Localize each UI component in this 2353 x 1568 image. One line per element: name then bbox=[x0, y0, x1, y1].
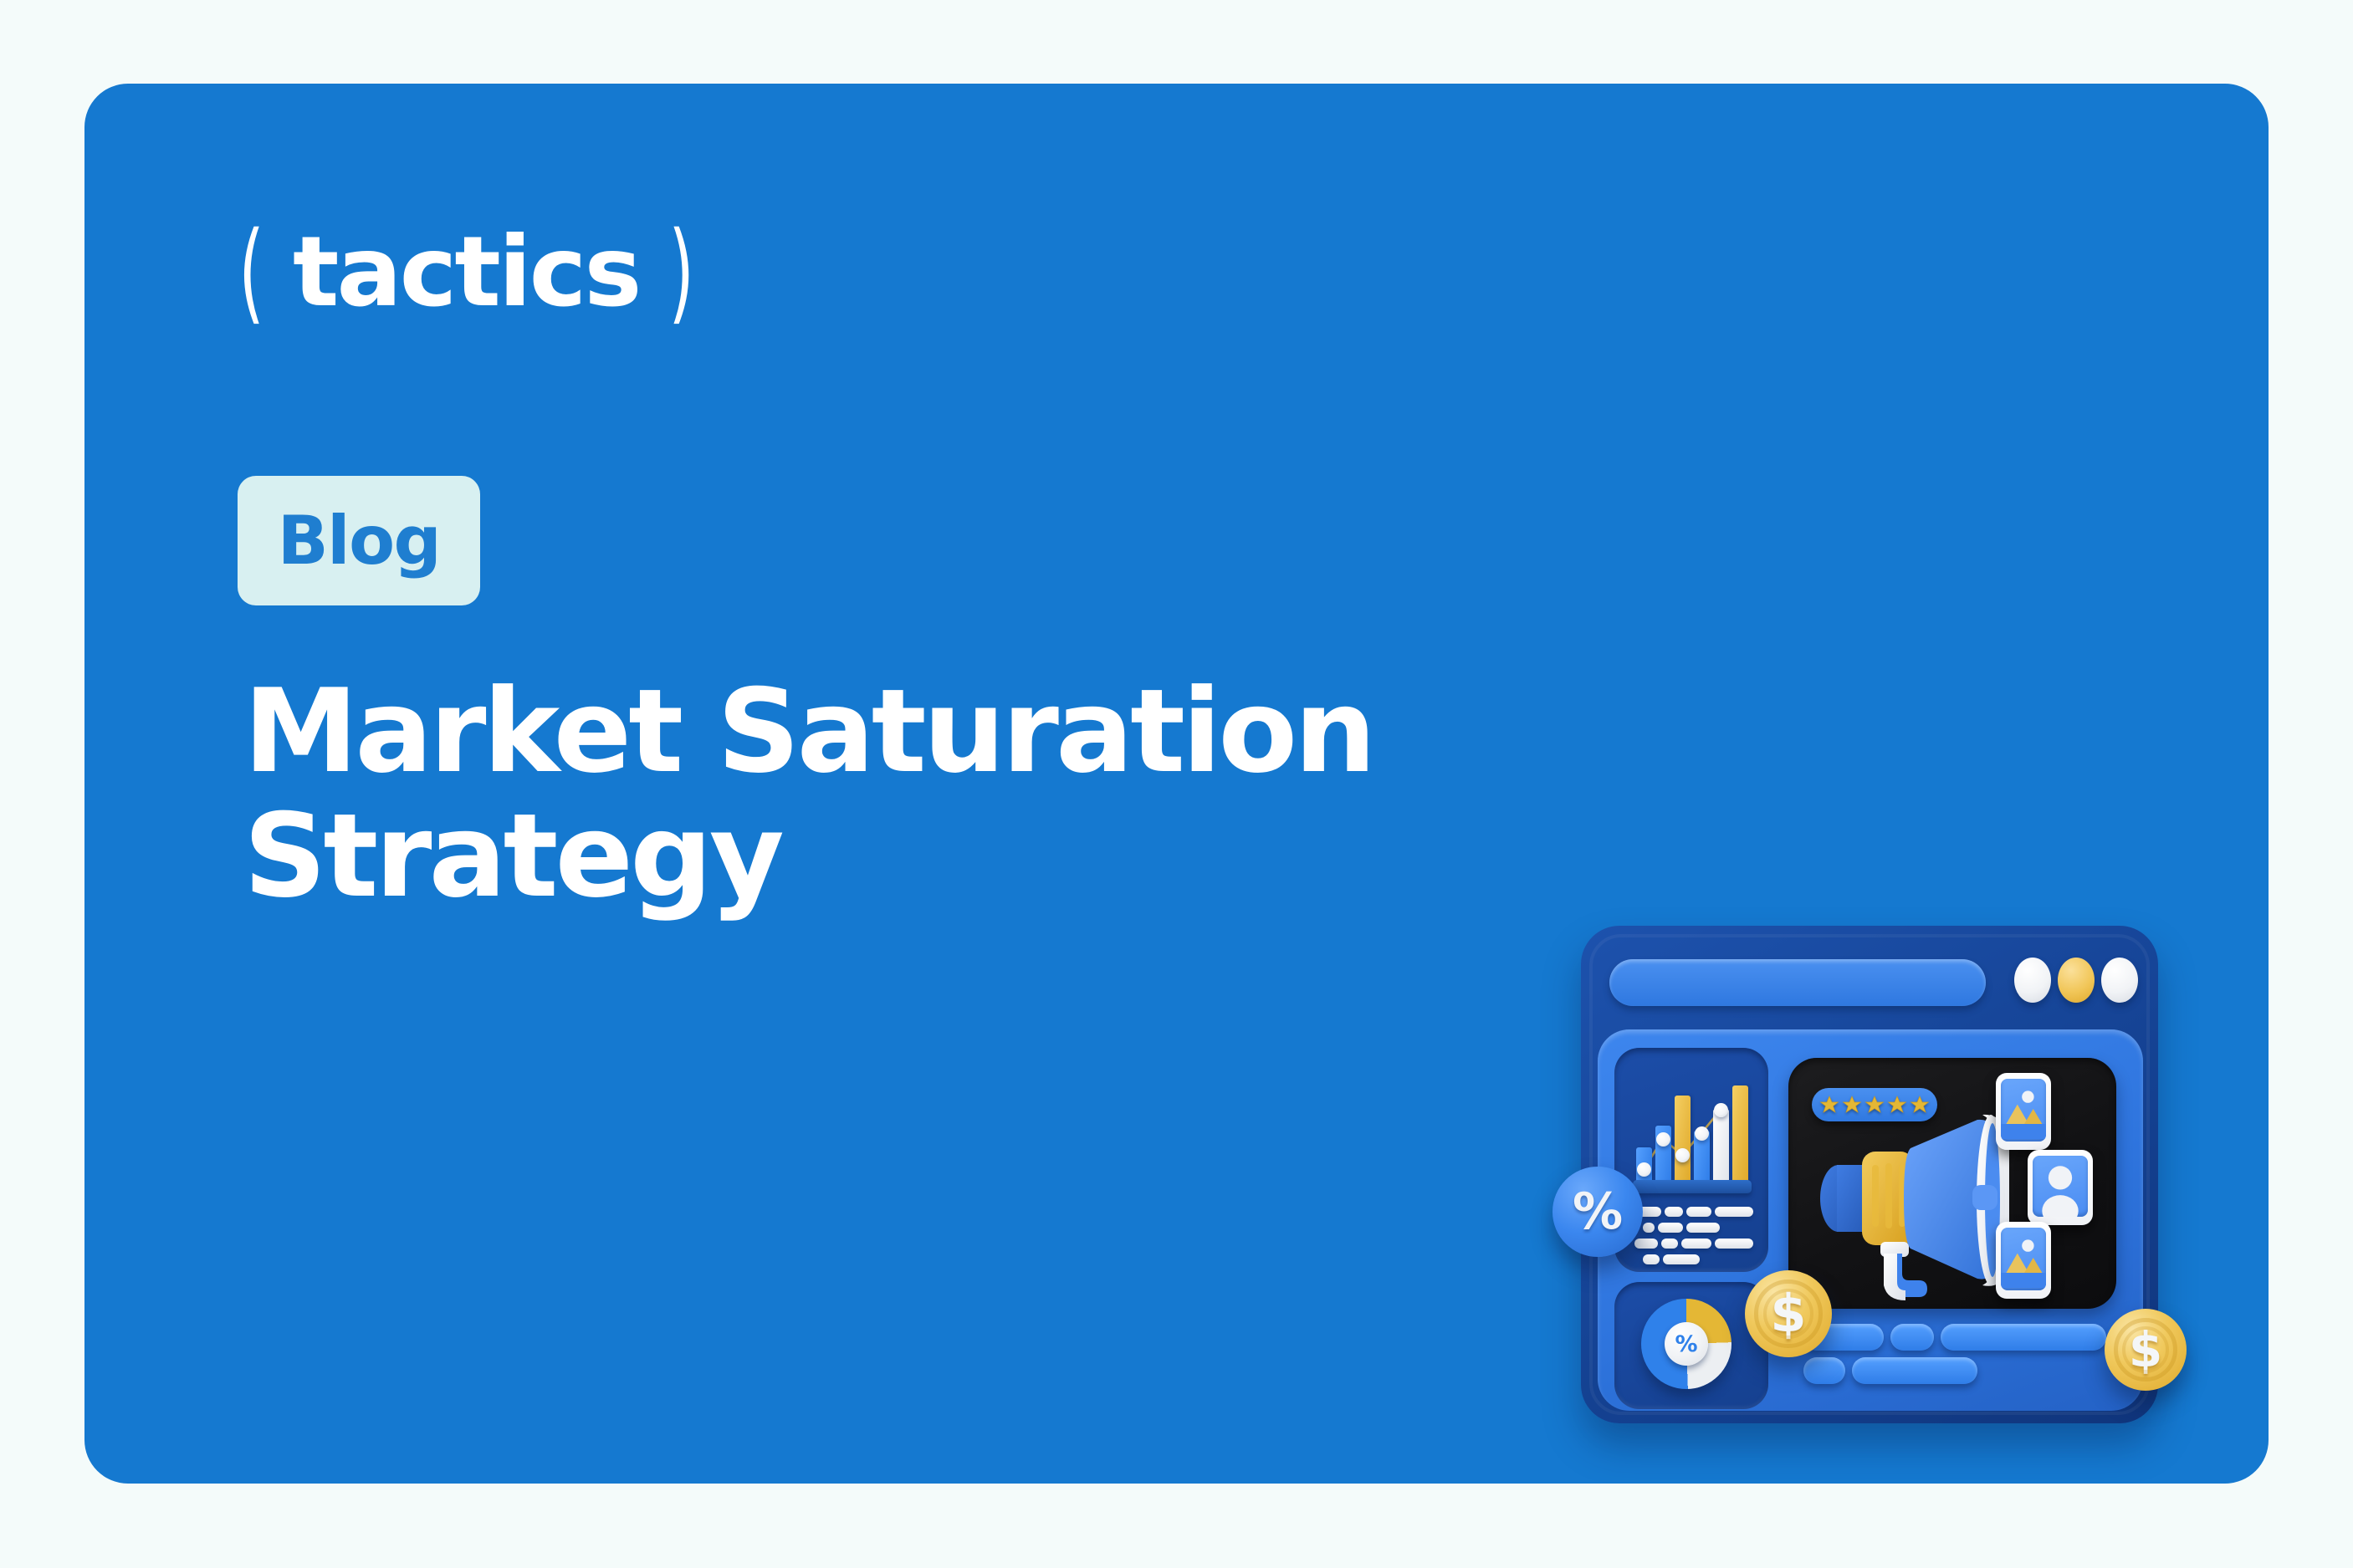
skeleton-line bbox=[1681, 1239, 1711, 1249]
skeleton-line bbox=[1643, 1254, 1660, 1264]
skeleton-line bbox=[1665, 1207, 1683, 1217]
trend-point bbox=[1695, 1126, 1709, 1141]
dollar-symbol: $ bbox=[1770, 1288, 1806, 1340]
brand-logo[interactable]: ( tactics ) bbox=[231, 222, 701, 323]
window-dot-gold-icon bbox=[2058, 958, 2095, 1003]
skeleton-line bbox=[1658, 1223, 1683, 1233]
skeleton-line bbox=[1686, 1207, 1711, 1217]
skeleton-line bbox=[1715, 1239, 1753, 1249]
skeleton-line bbox=[1686, 1223, 1720, 1233]
content-pill bbox=[1941, 1324, 2106, 1351]
skeleton-line bbox=[1663, 1254, 1700, 1264]
pie-chart: % bbox=[1641, 1299, 1732, 1389]
bar bbox=[1675, 1096, 1691, 1182]
pie-center-label: % bbox=[1665, 1322, 1708, 1366]
status-badge-label: Blog bbox=[278, 508, 441, 575]
bar-chart bbox=[1633, 1075, 1752, 1193]
coin-dollar-icon: $ bbox=[2105, 1309, 2187, 1391]
media-card-image[interactable] bbox=[1996, 1073, 2051, 1150]
bracket-left-icon: ( bbox=[238, 227, 263, 317]
skeleton-line bbox=[1715, 1207, 1753, 1217]
skeleton-line bbox=[1661, 1239, 1678, 1249]
trend-point bbox=[1656, 1132, 1670, 1147]
status-badge[interactable]: Blog bbox=[238, 476, 480, 605]
window-dot-white-icon bbox=[2014, 958, 2051, 1003]
media-card-person[interactable] bbox=[2028, 1150, 2093, 1225]
content-pill bbox=[1803, 1357, 1845, 1384]
percent-symbol: % bbox=[1573, 1187, 1623, 1237]
media-card-inner bbox=[2001, 1228, 2046, 1290]
bar bbox=[1713, 1109, 1729, 1182]
percent-badge: % bbox=[1552, 1167, 1643, 1257]
marketing-dashboard-illustration: % bbox=[1534, 906, 2203, 1474]
skeleton-line bbox=[1634, 1239, 1658, 1249]
trend-point bbox=[1714, 1103, 1728, 1117]
address-bar bbox=[1609, 959, 1986, 1006]
media-card-image[interactable] bbox=[1996, 1222, 2051, 1299]
bar bbox=[1732, 1085, 1748, 1182]
person-icon bbox=[2033, 1156, 2088, 1217]
coin-dollar-icon: $ bbox=[1745, 1270, 1832, 1357]
dollar-symbol: $ bbox=[2129, 1325, 2162, 1374]
hero-card: ( tactics ) Blog Market Saturation Strat… bbox=[84, 84, 2269, 1484]
window-dot-white-icon bbox=[2101, 958, 2138, 1003]
image-icon bbox=[2001, 1079, 2046, 1139]
brand-wordmark: tactics bbox=[293, 224, 640, 321]
media-card-inner bbox=[2001, 1079, 2046, 1142]
bracket-right-icon: ) bbox=[669, 227, 694, 317]
content-pill bbox=[1890, 1324, 1934, 1351]
preview-screen bbox=[1788, 1058, 2116, 1309]
content-pill bbox=[1852, 1357, 1977, 1384]
image-icon bbox=[2001, 1228, 2046, 1288]
trend-point bbox=[1637, 1162, 1651, 1177]
chart-baseline bbox=[1633, 1180, 1752, 1193]
media-card-inner bbox=[2033, 1156, 2088, 1217]
trend-point bbox=[1675, 1148, 1690, 1162]
skeleton-line bbox=[1643, 1223, 1655, 1233]
page-title: Market Saturation Strategy bbox=[243, 669, 1649, 918]
